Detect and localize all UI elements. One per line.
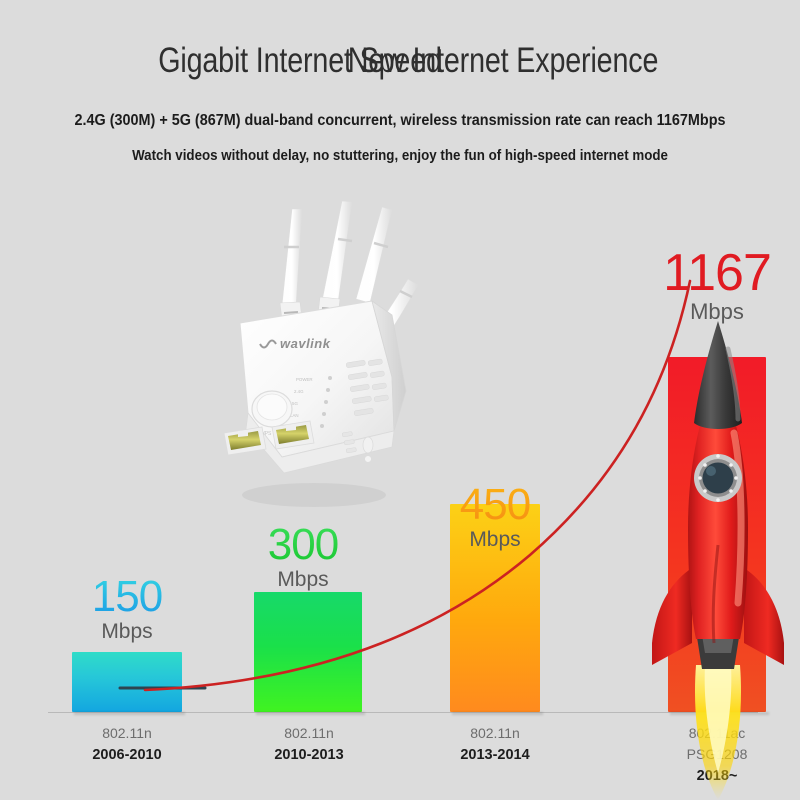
xaxis-years-3: 2013-2014 [400, 744, 590, 766]
bar-300mbps [254, 592, 362, 712]
xaxis-standard-3: 802.11n [400, 723, 590, 744]
xaxis-standard-1: 802.11n [32, 723, 222, 744]
bar-150mbps [72, 652, 182, 712]
value-label-2: 300 Mbps [228, 523, 378, 593]
value-unit-2: Mbps [228, 567, 378, 593]
xaxis-years-1: 2006-2010 [32, 744, 222, 766]
value-number-2: 300 [268, 520, 338, 569]
xaxis-label-1: 802.11n 2006-2010 [32, 723, 222, 766]
value-number-4: 1167 [663, 244, 771, 302]
page-title: Gigabit Internet Speed New Internet Expe… [0, 38, 800, 84]
xaxis-standard-2: 802.11n [214, 723, 404, 744]
infographic-banner: Gigabit Internet Speed New Internet Expe… [0, 0, 800, 800]
header: Gigabit Internet Speed New Internet Expe… [0, 0, 800, 185]
wavlink-router-device: wavlink POWER 2.4G 5G LAN WAN [196, 195, 436, 525]
xaxis-label-3: 802.11n 2013-2014 [400, 723, 590, 766]
value-number-3: 450 [460, 480, 530, 529]
xaxis-years-2: 2010-2013 [214, 744, 404, 766]
value-label-3: 450 Mbps [420, 483, 570, 553]
value-number-1: 150 [92, 572, 162, 621]
subtitle-line-2: Watch videos without delay, no stutterin… [32, 148, 768, 164]
speed-evolution-chart: 150 Mbps 300 Mbps 450 Mbps 1167 Mbps 802… [0, 185, 800, 800]
rocket-icon [648, 313, 788, 800]
xaxis-label-2: 802.11n 2010-2013 [214, 723, 404, 766]
value-label-1: 150 Mbps [52, 575, 202, 645]
value-unit-3: Mbps [420, 527, 570, 553]
svg-text:2.4G: 2.4G [294, 389, 304, 394]
page-title-secondary: New Internet Experience [175, 38, 800, 84]
svg-text:5G: 5G [292, 401, 298, 406]
subtitle-line-1: 2.4G (300M) + 5G (867M) dual-band concur… [40, 112, 760, 130]
value-unit-1: Mbps [52, 619, 202, 645]
svg-text:POWER: POWER [296, 377, 313, 382]
